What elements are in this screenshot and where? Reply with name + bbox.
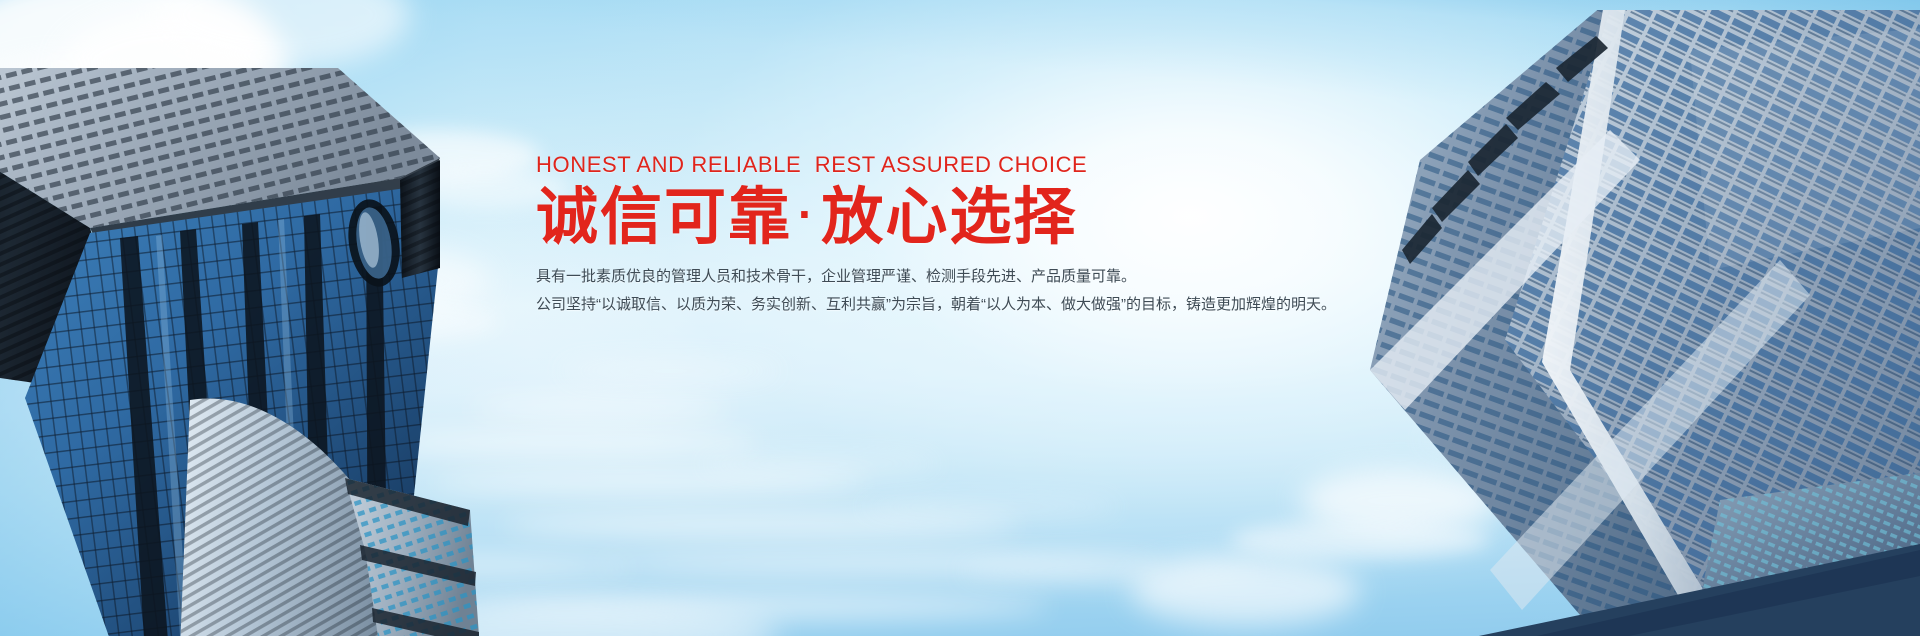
headline-separator-dot: · — [792, 188, 821, 240]
banner-eyebrow-english: HONEST AND RELIABLE REST ASSURED CHOICE — [536, 152, 1356, 177]
banner-body-line-2: 公司坚持“以诚取信、以质为荣、务实创新、互利共赢”为宗旨，朝着“以人为本、做大做… — [536, 291, 1356, 319]
banner-copy: HONEST AND RELIABLE REST ASSURED CHOICE … — [536, 152, 1356, 319]
banner-headline: 诚信可靠·放心选择 — [536, 183, 1356, 252]
headline-right-phrase: 放心选择 — [821, 183, 1077, 252]
hero-banner: HONEST AND RELIABLE REST ASSURED CHOICE … — [0, 0, 1920, 636]
headline-left-phrase: 诚信可靠 — [536, 183, 792, 252]
banner-body-line-1: 具有一批素质优良的管理人员和技术骨干，企业管理严谨、检测手段先进、产品质量可靠。 — [536, 263, 1356, 291]
